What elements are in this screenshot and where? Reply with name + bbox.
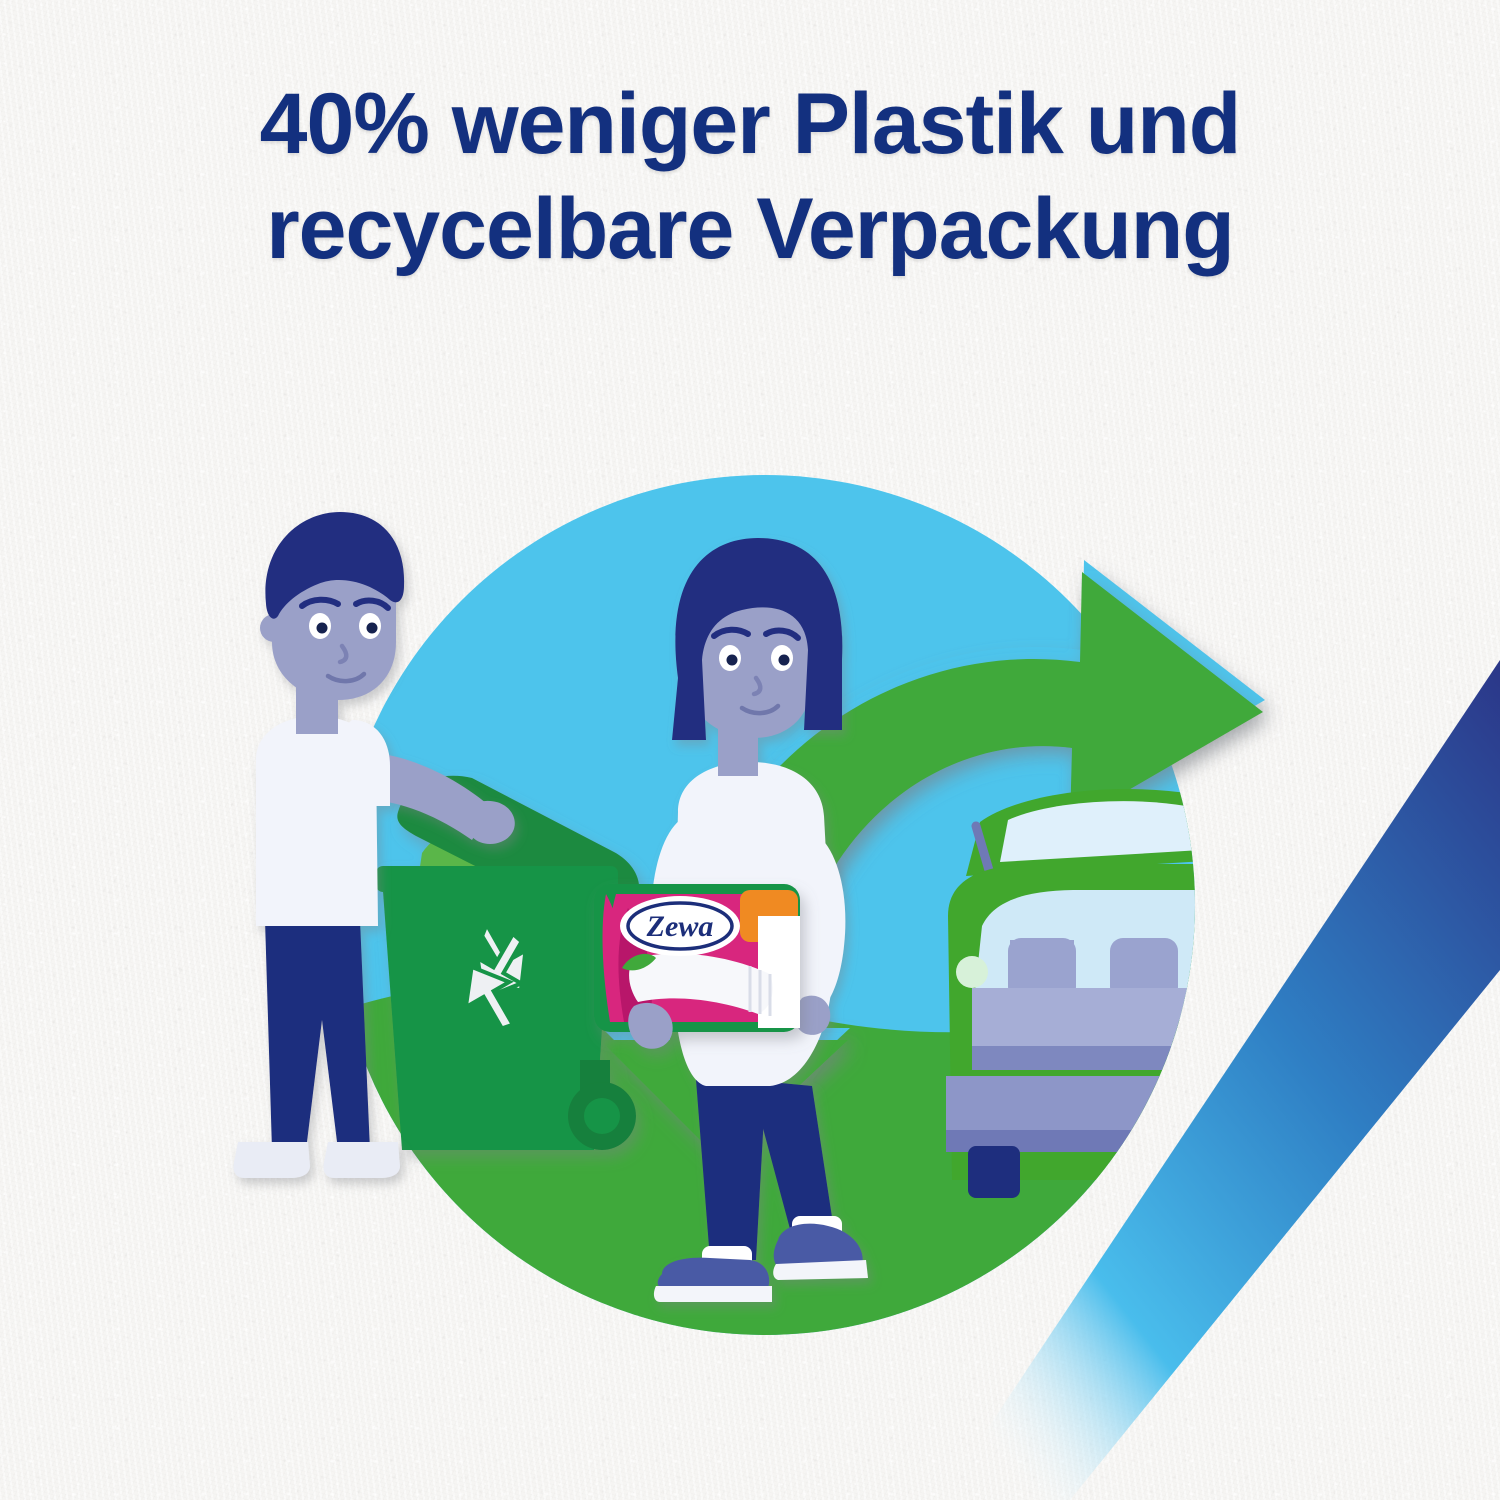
car-tail-light <box>956 956 988 988</box>
woman-shoe-back <box>658 1258 769 1288</box>
car-seat-back <box>972 988 1262 1052</box>
recycling-cycle-illustration: Zewa <box>210 360 1320 1470</box>
boy-trousers <box>265 920 370 1150</box>
bin-wheel-hub <box>584 1098 620 1134</box>
car-seat-shadow <box>972 1046 1262 1070</box>
green-car <box>946 789 1262 1198</box>
boy-pupil-right <box>367 623 378 634</box>
bin-rim <box>376 866 618 892</box>
woman-pupil-right <box>779 655 790 666</box>
headline-line-2: recycelbare Verpackung <box>90 177 1410 282</box>
headline-line-1: 40% weniger Plastik und <box>90 72 1410 177</box>
package-logo-text: Zewa <box>646 910 714 943</box>
boy-shoe-right <box>323 1142 400 1178</box>
woman-hand-right <box>795 996 830 1035</box>
woman-shoe-back-sole <box>654 1286 772 1302</box>
page-title: 40% weniger Plastik und recycelbare Verp… <box>0 72 1500 282</box>
car-exhaust <box>968 1146 1020 1198</box>
zewa-tissue-box: Zewa <box>594 884 800 1049</box>
boy-shoe-left <box>233 1142 310 1178</box>
woman-pupil-left <box>727 655 738 666</box>
boy-pupil-left <box>317 623 328 634</box>
promo-banner: 40% weniger Plastik und recycelbare Verp… <box>0 0 1500 1500</box>
